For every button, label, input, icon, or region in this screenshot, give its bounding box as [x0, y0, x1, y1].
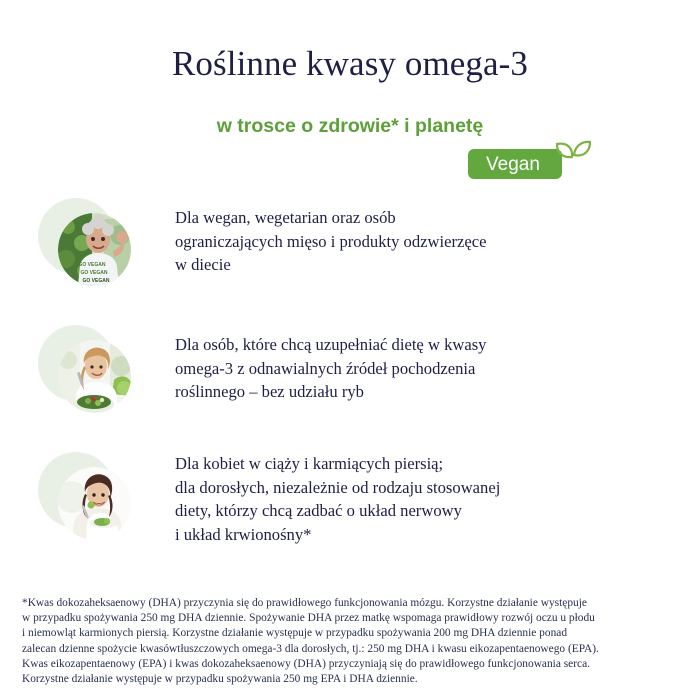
benefit-photo-wrap	[0, 444, 175, 570]
benefit-line: w diecie	[175, 253, 486, 277]
benefit-text: Dla wegan, wegetarian oraz osób ogranicz…	[175, 190, 510, 277]
footnote: *Kwas dokozaheksaenowy (DHA) przyczynia …	[22, 596, 686, 687]
benefit-text: Dla osób, które chcą uzupełniać dietę w …	[175, 317, 510, 404]
page-subtitle: w trosce o zdrowie* i planetę	[0, 84, 700, 138]
omega3-infographic: Roślinne kwasy omega-3 w trosce o zdrowi…	[0, 0, 700, 700]
benefit-line: ograniczających mięso i produkty odzwier…	[175, 230, 486, 254]
leaf-icon	[543, 139, 591, 183]
benefit-line: Dla kobiet w ciąży i karmiących piersią;	[175, 452, 500, 476]
photo-woman-go-vegan: GO VEGAN GO VEGAN GO VEGAN	[58, 213, 131, 286]
benefit-line: i układ krwionośny*	[175, 523, 500, 547]
benefit-line: dla dorosłych, niezależnie od rodzaju st…	[175, 476, 500, 500]
svg-text:GO VEGAN: GO VEGAN	[83, 278, 110, 284]
badge-row: Vegan	[0, 138, 700, 184]
photo-pregnant-woman-salad	[58, 467, 131, 540]
page-title: Roślinne kwasy omega-3	[0, 44, 700, 84]
footnote-line: i niemowląt karmionych piersią. Korzystn…	[22, 626, 686, 641]
benefit-line: Dla osób, które chcą uzupełniać dietę w …	[175, 333, 486, 357]
benefit-line: omega-3 z odnawialnych źródeł pochodzeni…	[175, 357, 486, 381]
benefit-photo-wrap	[0, 317, 175, 444]
benefit-item: GO VEGAN GO VEGAN GO VEGAN Dla wegan, we…	[0, 190, 700, 317]
footnote-line: Kwas eikozapentaenowy (EPA) i kwas dokoz…	[22, 657, 686, 672]
footnote-line: *Kwas dokozaheksaenowy (DHA) przyczynia …	[22, 596, 686, 611]
benefit-text: Dla kobiet w ciąży i karmiących piersią;…	[175, 444, 524, 546]
benefit-line: roślinnego – bez udziału ryb	[175, 380, 486, 404]
benefit-item: Dla osób, które chcą uzupełniać dietę w …	[0, 317, 700, 444]
svg-text:GO VEGAN: GO VEGAN	[79, 262, 106, 268]
benefits-list: GO VEGAN GO VEGAN GO VEGAN Dla wegan, we…	[0, 190, 700, 570]
benefit-line: diety, którzy chcą zadbać o układ nerwow…	[175, 499, 500, 523]
vegan-badge-label: Vegan	[486, 155, 544, 174]
photo-woman-eating-salad	[58, 340, 131, 413]
benefit-photo-wrap: GO VEGAN GO VEGAN GO VEGAN	[0, 190, 175, 317]
svg-text:GO VEGAN: GO VEGAN	[81, 270, 108, 276]
footnote-line: w przypadku spożywania 250 mg DHA dzienn…	[22, 611, 686, 626]
footnote-line: zalecan dzienne spożycie kwasówtłuszczow…	[22, 642, 686, 657]
benefit-item: Dla kobiet w ciąży i karmiących piersią;…	[0, 444, 700, 570]
header: Roślinne kwasy omega-3 w trosce o zdrowi…	[0, 0, 700, 138]
benefit-line: Dla wegan, wegetarian oraz osób	[175, 206, 486, 230]
footnote-line: Korzystne działanie występuje w przypadk…	[22, 672, 686, 687]
